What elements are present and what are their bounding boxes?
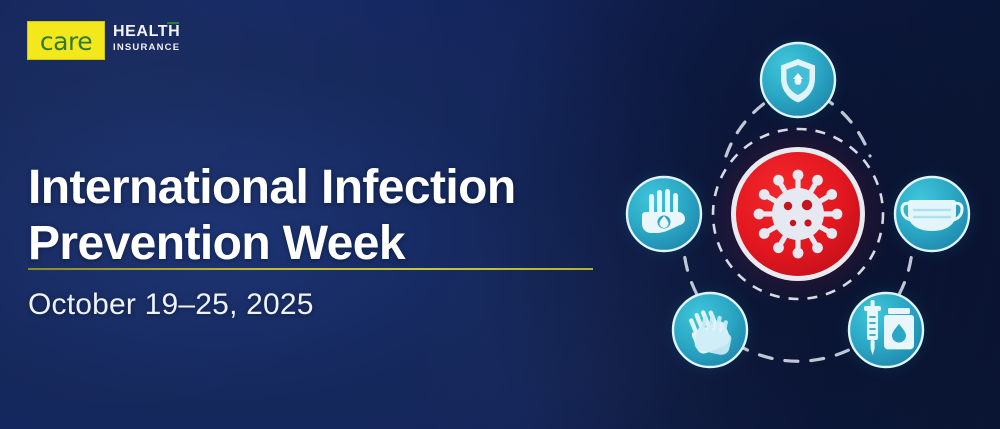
virus-center-group — [702, 118, 894, 310]
gloves-icon — [664, 284, 756, 376]
page-title-line-1: International Infection — [28, 160, 628, 216]
shield-plus-icon — [752, 34, 844, 126]
macron-accent-icon — [167, 22, 179, 24]
logo-health-text: HEALTH — [113, 24, 180, 40]
infection-prevention-week-banner: care HEALTH INSURANCE International Infe… — [0, 0, 1000, 429]
care-health-insurance-logo[interactable]: care HEALTH INSURANCE — [27, 21, 180, 61]
logo-insurance-text: INSURANCE — [113, 43, 180, 53]
event-date: October 19–25, 2025 — [28, 288, 314, 322]
face-mask-icon — [886, 168, 978, 260]
hand-hygiene-icon — [618, 168, 710, 260]
page-title: International Infection Prevention Week — [28, 160, 628, 271]
care-logo-badge: care — [27, 21, 105, 60]
infection-prevention-graphic — [608, 24, 988, 404]
title-divider — [28, 268, 593, 270]
logo-text-block: HEALTH INSURANCE — [113, 21, 180, 53]
syringe-vial-icon — [840, 284, 932, 376]
care-logo-wordmark: care — [40, 27, 92, 54]
page-title-line-2: Prevention Week — [28, 216, 628, 272]
